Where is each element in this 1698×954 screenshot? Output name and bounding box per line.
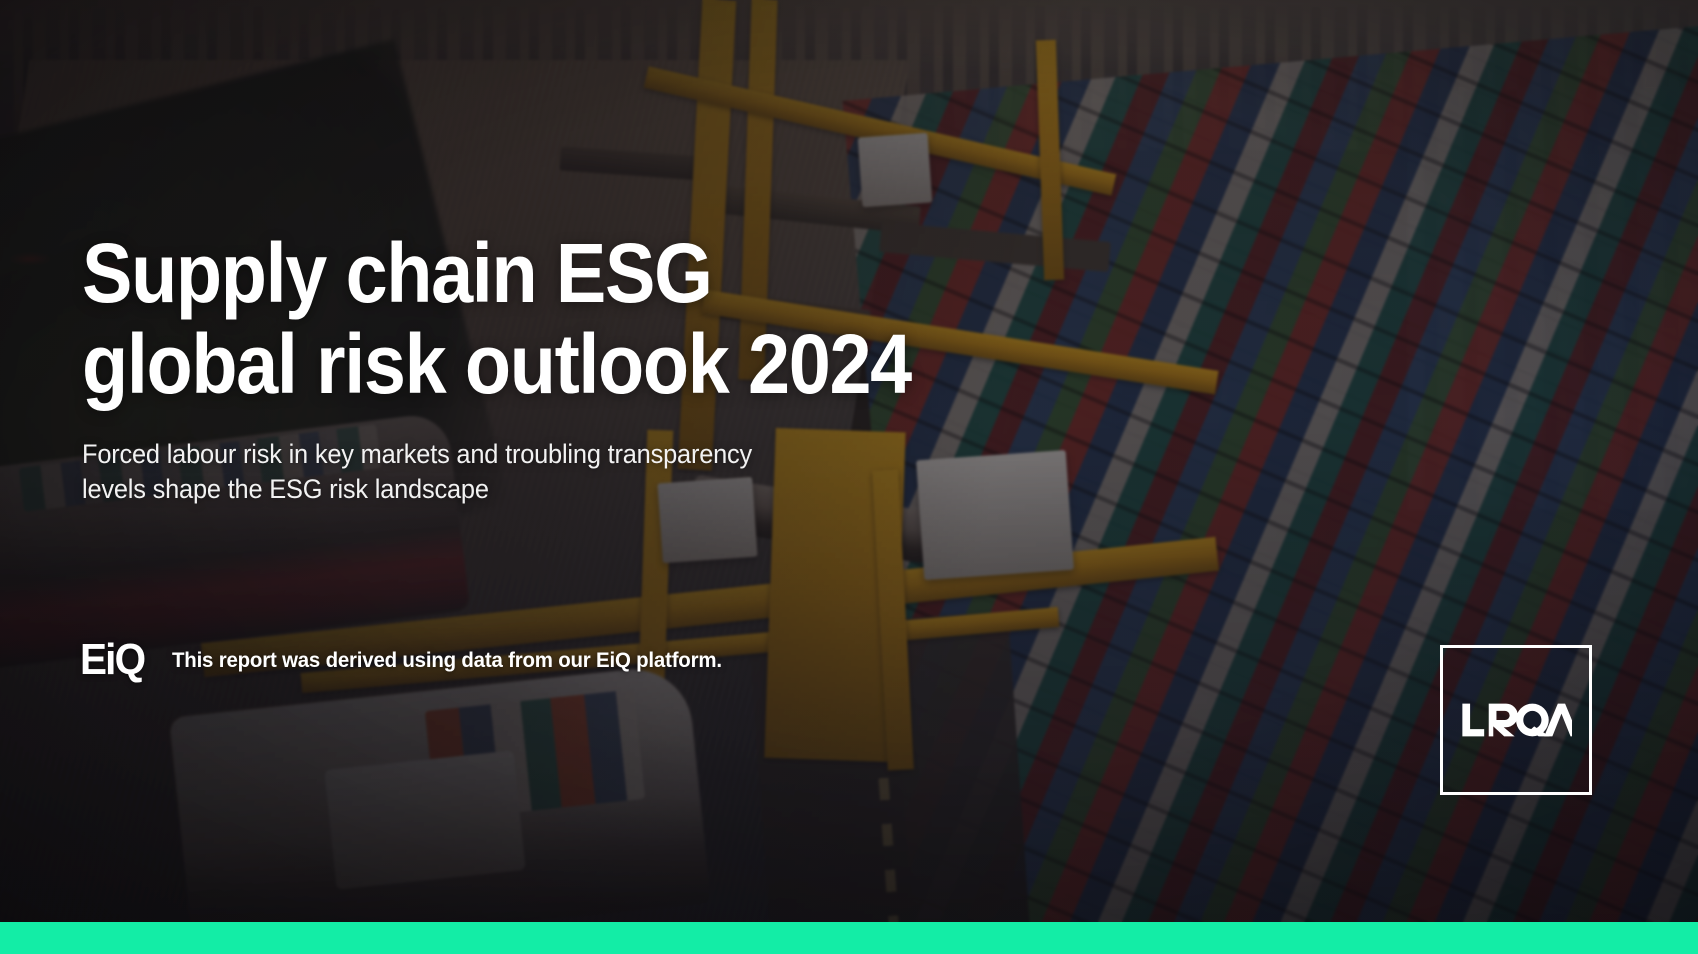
brand-logo-box: [1440, 645, 1592, 795]
platform-credit-text: This report was derived using data from …: [172, 648, 722, 673]
page-title-line-1: Supply chain ESG: [82, 228, 982, 319]
eiq-logo-icon: EiQ: [80, 638, 144, 682]
page-title: Supply chain ESG global risk outlook 202…: [82, 228, 982, 409]
cover-content: Supply chain ESG global risk outlook 202…: [0, 0, 1698, 954]
page-title-line-2: global risk outlook 2024: [82, 319, 982, 410]
page-subtitle-line-1: Forced labour risk in key markets and tr…: [82, 437, 872, 472]
report-cover-page: Supply chain ESG global risk outlook 202…: [0, 0, 1698, 954]
page-subtitle-line-2: levels shape the ESG risk landscape: [82, 472, 872, 507]
platform-credit: EiQ This report was derived using data f…: [80, 638, 751, 682]
page-subtitle: Forced labour risk in key markets and tr…: [82, 437, 872, 506]
lrqa-wordmark-icon: [1460, 700, 1572, 740]
bottom-accent-bar: [0, 922, 1698, 954]
